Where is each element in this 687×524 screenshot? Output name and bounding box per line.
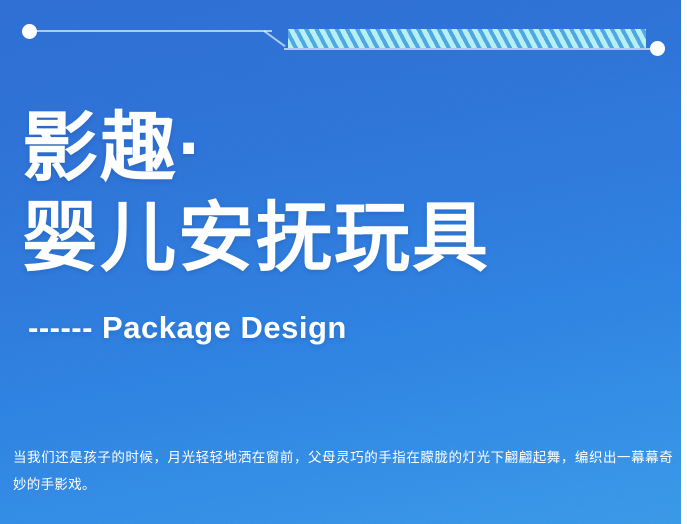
striped-bar-icon xyxy=(288,29,646,48)
decoration-line-right xyxy=(284,48,658,50)
top-decoration xyxy=(0,0,681,86)
page-subtitle: ------ Package Design xyxy=(28,310,347,346)
decorative-dot-left-icon xyxy=(22,24,37,39)
poster-canvas: 影趣· 婴儿安抚玩具 ------ Package Design 当我们还是孩子… xyxy=(0,0,687,524)
decoration-line-left xyxy=(34,30,272,32)
decoration-line-diagonal xyxy=(263,30,285,47)
page-title: 影趣· 婴儿安抚玩具 xyxy=(22,104,642,283)
intro-paragraph: 当我们还是孩子的时候，月光轻轻地洒在窗前，父母灵巧的手指在朦胧的灯光下翩翩起舞，… xyxy=(13,444,673,498)
title-line-1: 影趣· xyxy=(22,104,642,194)
title-line-2: 婴儿安抚玩具 xyxy=(22,194,642,284)
decorative-dot-right-icon xyxy=(650,41,665,56)
